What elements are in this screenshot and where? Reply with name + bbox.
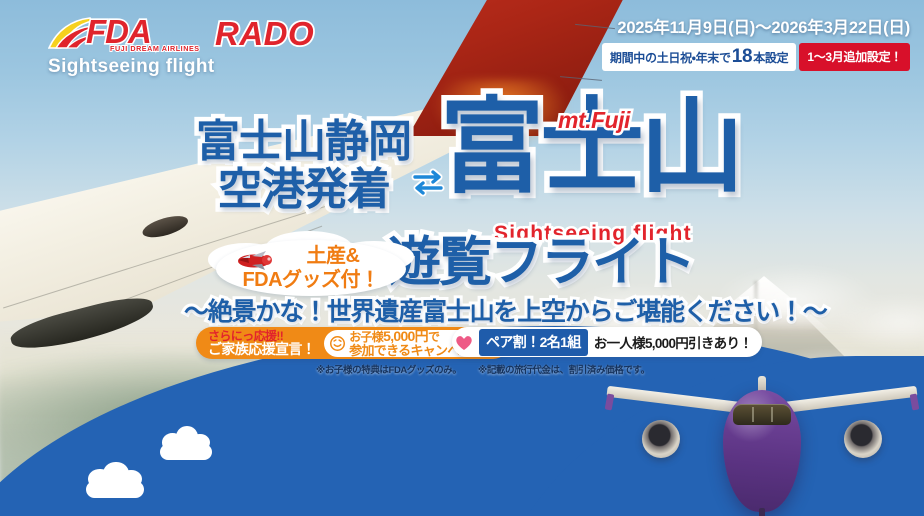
kids-amount: 5,000円 (383, 328, 428, 344)
main-title-block: 富士山静岡 空港発着 富士山 mt.Fuji Sightseeing fligh… (0, 0, 924, 516)
souvenir-badge-text: 土産& FDAグッズ付！ (216, 244, 406, 292)
note-kids-benefit: ※お子様の特典はFDAグッズのみ。 (316, 362, 461, 376)
family-badge-text: さらにっ応援!! ご家族応援宣言！ (196, 327, 324, 359)
pair-discount-badge: ペア割！2名1組 お一人様5,000円引きあり！ (452, 327, 762, 357)
kids-line1-post: で (428, 330, 439, 344)
main-title-romaji: mt.Fuji (558, 107, 630, 134)
departure-title: 富士山静岡 空港発着 (196, 118, 411, 214)
fda-fuji-sightseeing-banner: FDA FUJI DREAM AIRLINES RADO Sightseeing… (0, 0, 924, 516)
smiley-face-icon (330, 336, 345, 351)
souvenir-line1: 土産& (216, 244, 406, 268)
heart-icon (455, 334, 473, 351)
departure-title-line2: 空港発着 (218, 166, 411, 214)
note-price-disclaimer: ※記載の旅行代金は、割引済み価格です。 (478, 362, 650, 376)
pair-discount-chip: ペア割！2名1組 (479, 329, 588, 356)
souvenir-line2: FDAグッズ付！ (242, 269, 379, 291)
departure-title-line1: 富士山静岡 (196, 117, 411, 166)
catch-copy: 〜絶景かな！世界遺産富士山を上空からご堪能ください！〜 (184, 292, 827, 328)
kids-line1-pre: お子様 (349, 330, 383, 344)
family-badge-subline: ご家族応援宣言！ (208, 343, 315, 356)
pair-discount-amount: お一人様5,000円引きあり！ (594, 332, 752, 352)
sightseeing-japanese-label: 遊覧フライト (388, 234, 694, 292)
souvenir-badge: 土産& FDAグッズ付！ (216, 240, 406, 296)
